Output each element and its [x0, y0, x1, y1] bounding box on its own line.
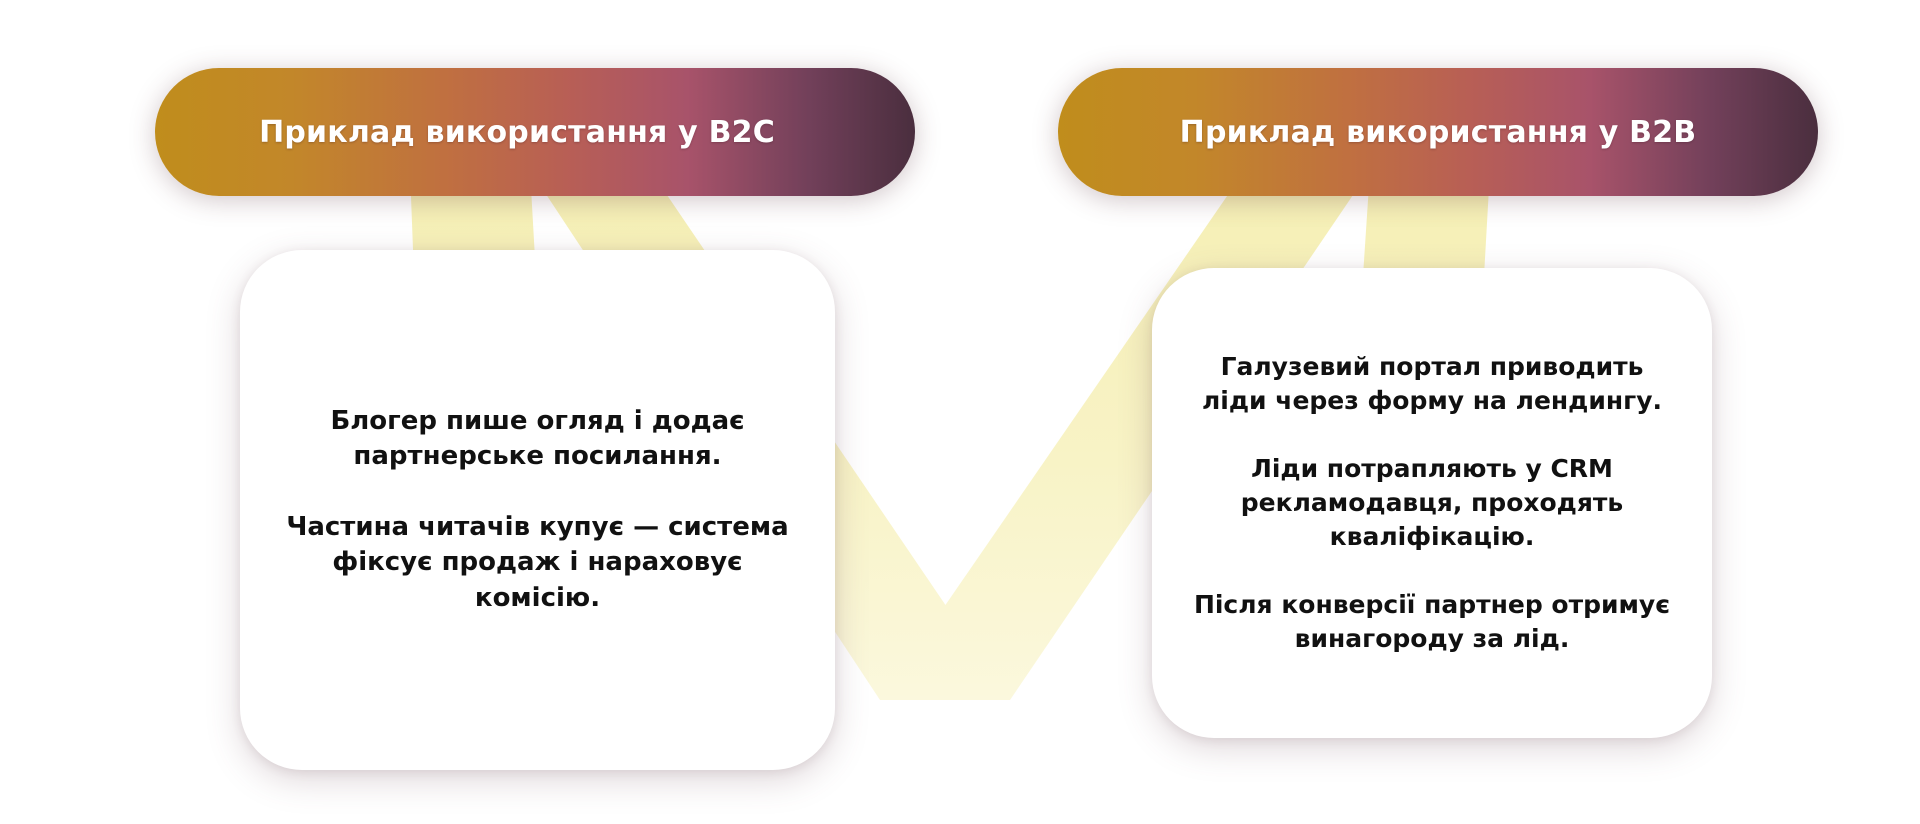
card-paragraph: Ліди потрапляють у CRM рекламодавця, про…	[1186, 452, 1678, 554]
header-pill-b2c-label: Приклад використання у B2C	[259, 115, 775, 150]
column-b2c: Приклад використання у B2C Блогер пише о…	[0, 0, 960, 824]
card-paragraph: Частина читачів купує — система фіксує п…	[274, 510, 801, 616]
content-card-b2c: Блогер пише огляд і додає партнерське по…	[240, 250, 835, 770]
card-paragraph: Галузевий портал приводить ліди через фо…	[1186, 350, 1678, 418]
card-paragraph: Блогер пише огляд і додає партнерське по…	[274, 404, 801, 475]
header-pill-b2b: Приклад використання у B2B	[1058, 68, 1818, 196]
header-pill-b2b-label: Приклад використання у B2B	[1180, 115, 1697, 150]
card-body-b2c: Блогер пише огляд і додає партнерське по…	[240, 404, 835, 616]
content-card-b2b: Галузевий портал приводить ліди через фо…	[1152, 268, 1712, 738]
slide-stage: Приклад використання у B2C Блогер пише о…	[0, 0, 1920, 824]
card-body-b2b: Галузевий портал приводить ліди через фо…	[1152, 350, 1712, 656]
column-b2b: Приклад використання у B2B Галузевий пор…	[960, 0, 1920, 824]
header-pill-b2c: Приклад використання у B2C	[155, 68, 915, 196]
card-paragraph: Після конверсії партнер отримує винагоро…	[1186, 588, 1678, 656]
